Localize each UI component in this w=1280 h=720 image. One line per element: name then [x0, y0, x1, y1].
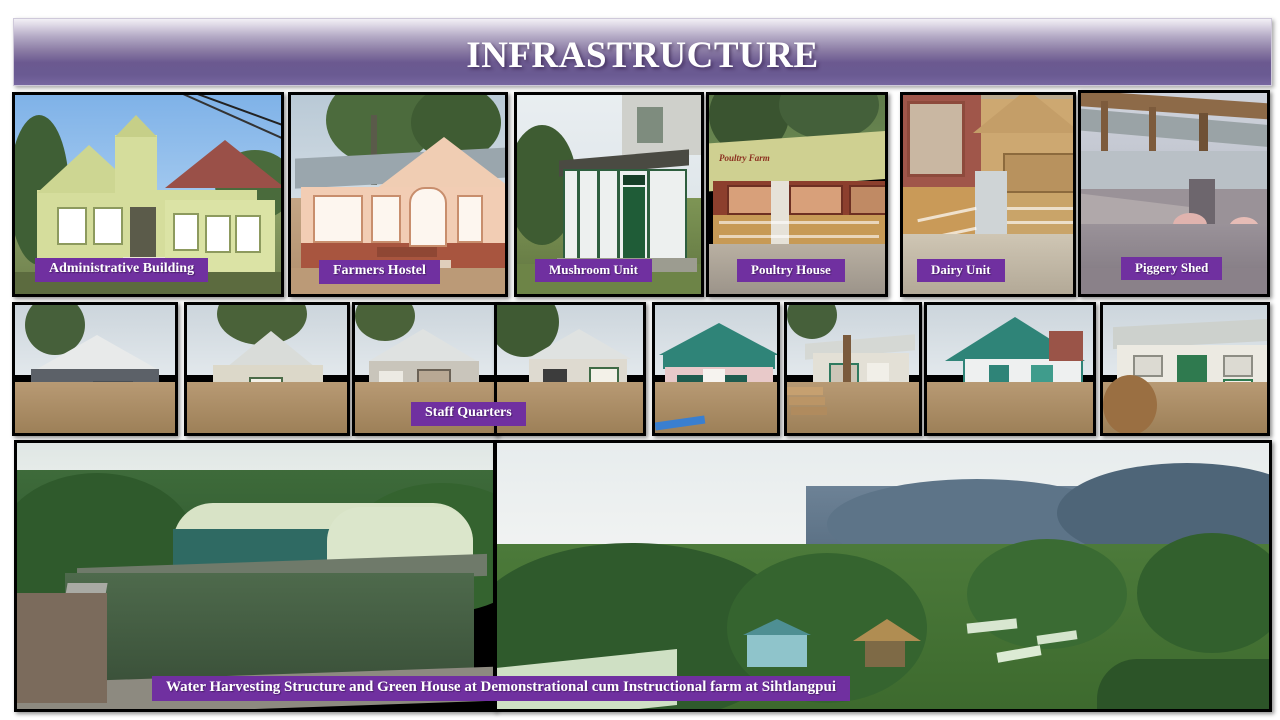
photo-staff-quarter-5[interactable]: [652, 302, 780, 436]
photo-image: [15, 305, 175, 433]
caption-administrative-building: Administrative Building: [35, 258, 208, 282]
photo-image: [655, 305, 777, 433]
photo-staff-quarter-8[interactable]: [1100, 302, 1270, 436]
caption-poultry-house: Poultry House: [737, 259, 845, 282]
photo-image: [17, 443, 493, 709]
photo-image: [187, 305, 347, 433]
photo-image: [787, 305, 919, 433]
caption-mushroom-unit: Mushroom Unit: [535, 259, 652, 282]
photo-farmers-hostel[interactable]: Farmers Hostel: [288, 92, 508, 297]
caption-dairy-unit: Dairy Unit: [917, 259, 1005, 282]
caption-piggery-shed: Piggery Shed: [1121, 257, 1222, 280]
photo-staff-quarter-1[interactable]: [12, 302, 178, 436]
photo-poultry-house[interactable]: Poultry Farm Poultry House: [706, 92, 888, 297]
photo-staff-quarter-7[interactable]: [924, 302, 1096, 436]
photo-water-harvesting-structure[interactable]: [14, 440, 496, 712]
caption-farmers-hostel: Farmers Hostel: [319, 260, 440, 284]
photo-image: [497, 443, 1269, 709]
page-title: INFRASTRUCTURE: [466, 31, 818, 74]
caption-staff-quarters: Staff Quarters: [411, 402, 526, 426]
photo-piggery-shed[interactable]: Piggery Shed: [1078, 90, 1270, 297]
photo-instructional-farm-landscape[interactable]: [494, 440, 1272, 712]
slide-root: INFRASTRUCTURE: [0, 0, 1280, 720]
photo-image: [927, 305, 1093, 433]
photo-staff-quarter-6[interactable]: [784, 302, 922, 436]
photo-dairy-unit[interactable]: Dairy Unit: [900, 92, 1076, 297]
photo-image: [1103, 305, 1267, 433]
photo-administrative-building[interactable]: Administrative Building: [12, 92, 284, 297]
photo-staff-quarter-2[interactable]: [184, 302, 350, 436]
poultry-farm-sign: Poultry Farm: [719, 153, 799, 167]
photo-mushroom-unit[interactable]: Mushroom Unit: [514, 92, 704, 297]
title-banner: INFRASTRUCTURE: [13, 18, 1272, 86]
caption-water-harvesting-and-greenhouse: Water Harvesting Structure and Green Hou…: [152, 676, 850, 701]
